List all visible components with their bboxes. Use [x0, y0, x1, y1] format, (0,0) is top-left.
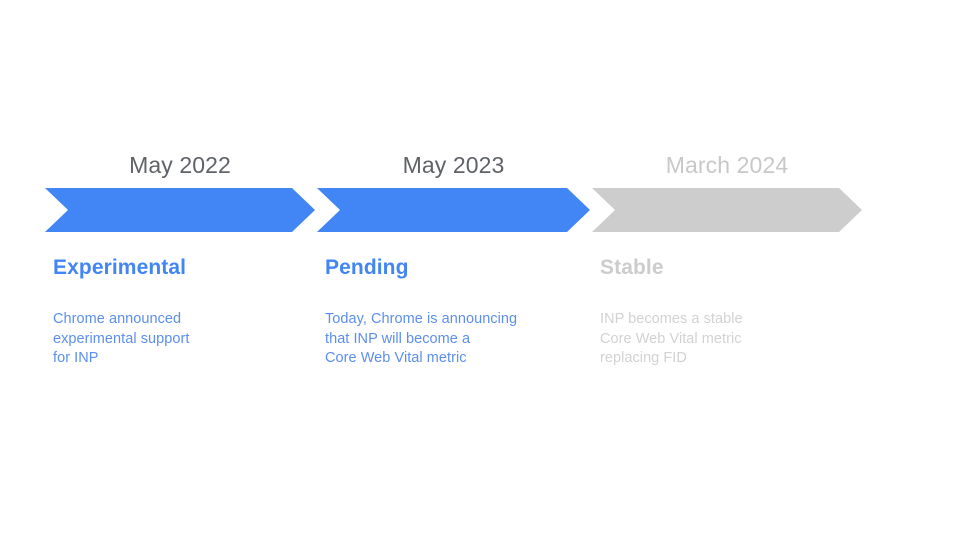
- description-line: that INP will become a: [325, 330, 517, 350]
- stage-title-label: Stable: [600, 254, 664, 281]
- description-line: Core Web Vital metric: [325, 349, 517, 369]
- chevron-arrow-shape: [592, 188, 862, 232]
- description-line: replacing FID: [600, 349, 743, 369]
- description-line: Today, Chrome is announcing: [325, 310, 517, 330]
- stage-date-label: May 2022: [45, 150, 315, 180]
- description-line: for INP: [53, 349, 189, 369]
- description-line: Core Web Vital metric: [600, 330, 743, 350]
- timeline-stage-pending: May 2023 Pending Today, Chrome is announ…: [317, 0, 590, 540]
- chevron-arrow-shape: [317, 188, 590, 232]
- inp-timeline-diagram: May 2022 Experimental Chrome announced e…: [0, 0, 960, 540]
- timeline-stage-experimental: May 2022 Experimental Chrome announced e…: [45, 0, 315, 540]
- description-line: Chrome announced: [53, 310, 189, 330]
- timeline-stage-stable: March 2024 Stable INP becomes a stable C…: [592, 0, 862, 540]
- stage-date-label: May 2023: [317, 150, 590, 180]
- chevron-arrow-shape: [45, 188, 315, 232]
- description-line: INP becomes a stable: [600, 310, 743, 330]
- stage-title-label: Pending: [325, 254, 409, 281]
- description-line: experimental support: [53, 330, 189, 350]
- stage-description: INP becomes a stable Core Web Vital metr…: [600, 310, 743, 369]
- stage-description: Today, Chrome is announcing that INP wil…: [325, 310, 517, 369]
- stage-description: Chrome announced experimental support fo…: [53, 310, 189, 369]
- stage-title-label: Experimental: [53, 254, 186, 281]
- stage-date-label: March 2024: [592, 150, 862, 180]
